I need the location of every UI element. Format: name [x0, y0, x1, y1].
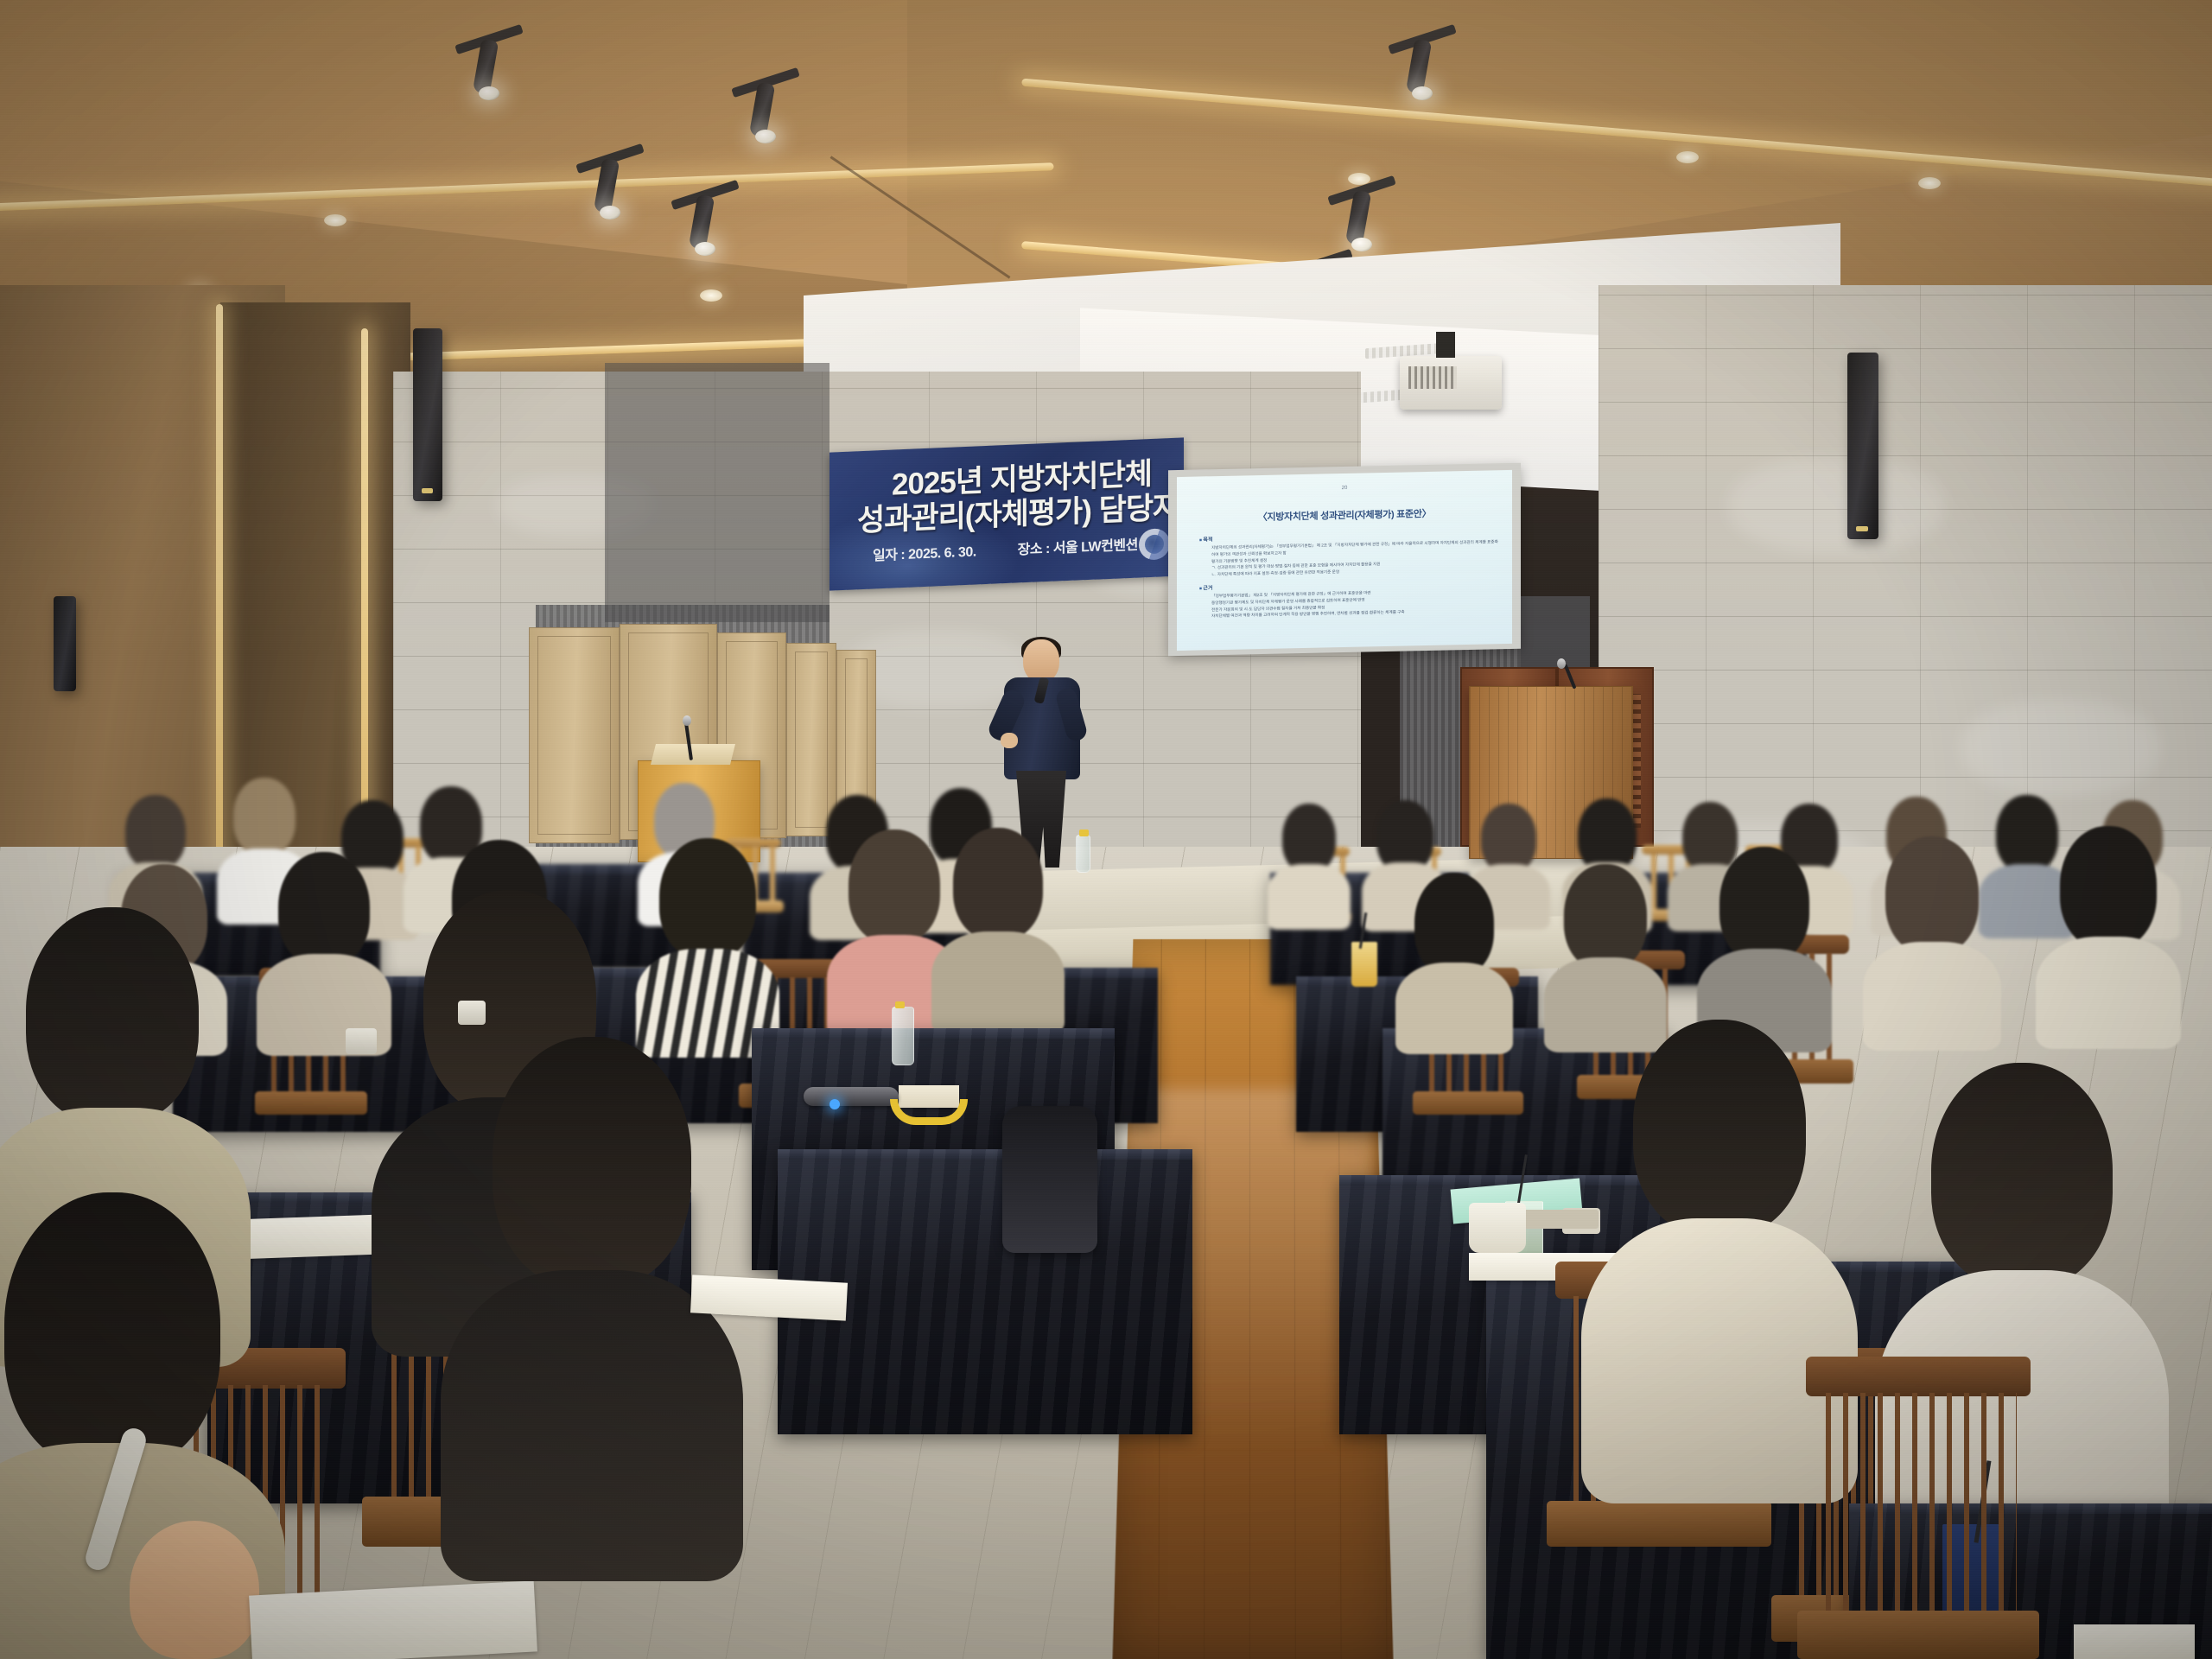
downlight [324, 214, 346, 226]
torso [1863, 942, 2001, 1051]
stone-blotch [1728, 458, 1944, 553]
banner-meta-gap [980, 555, 1014, 556]
head [659, 838, 756, 959]
ceiling-panel-left [0, 0, 1020, 297]
slide-title: 〈지방자치단체 성과관리(자체평가) 표준안〉 [1177, 505, 1512, 525]
head [26, 907, 199, 1123]
head [1414, 873, 1494, 976]
bottle-cap [895, 1001, 905, 1008]
ceramic-mug [1469, 1203, 1526, 1253]
head [1885, 836, 1979, 954]
audience-member [639, 838, 776, 1046]
water-bottle [892, 1007, 914, 1065]
audience-member [1700, 847, 1828, 1046]
wood-folding-screen-panel [529, 627, 620, 843]
bottle-cap [1079, 829, 1089, 836]
head [953, 828, 1043, 940]
speaker-led-indicator [1856, 526, 1868, 531]
projection-screen: 20 〈지방자치단체 성과관리(자체평가) 표준안〉 목적 지방자치단체의 성과… [1168, 463, 1521, 657]
presenter-left-hand [1001, 733, 1018, 748]
torso [1268, 864, 1351, 930]
head [1931, 1063, 2113, 1287]
track-light-lens [600, 206, 620, 219]
water-bottle-on-stage [1076, 835, 1090, 873]
audience-member [933, 828, 1063, 1028]
taegeuk-emblem-icon [1139, 528, 1170, 561]
head [4, 1192, 220, 1469]
projector-vent [1408, 366, 1457, 389]
small-cup [346, 1028, 377, 1054]
chair [1806, 1357, 2031, 1659]
presenter-head [1023, 639, 1059, 683]
audience-member [1866, 836, 1998, 1042]
stone-blotch [1961, 700, 2160, 795]
head [233, 778, 296, 855]
speaker-led-indicator [422, 488, 434, 493]
track-light-lens [755, 130, 776, 143]
printed-handout [2074, 1624, 2195, 1659]
head [1481, 804, 1536, 873]
ceiling-projector [1400, 356, 1502, 410]
wall-speaker-left [413, 328, 442, 501]
head [278, 852, 370, 966]
audience-member [1398, 873, 1510, 1046]
downlight [1676, 151, 1699, 163]
napkin [1521, 1210, 1599, 1229]
event-banner: 2025년 지방자치단체 성과관리(자체평가) 담당자 역량 일자 : 2025… [829, 437, 1184, 590]
wall-speaker-right [1847, 353, 1878, 539]
track-light-lens [695, 242, 715, 256]
track-light-lens [1412, 86, 1433, 100]
torso [2036, 937, 2181, 1049]
head [125, 795, 186, 869]
torso [1395, 963, 1513, 1054]
wall-speaker-far-left [54, 596, 76, 691]
downlight [700, 289, 722, 302]
audience-member [2039, 826, 2177, 1039]
audience-member [259, 852, 389, 1047]
head [1564, 864, 1647, 969]
head [1719, 847, 1809, 963]
head [1633, 1020, 1806, 1236]
banner-date: 일자 : 2025. 6. 30. [873, 544, 976, 563]
hand [130, 1521, 259, 1659]
audience-member [1270, 804, 1348, 925]
small-cup [458, 1001, 486, 1025]
track-light-lens [1351, 238, 1372, 251]
head [849, 829, 940, 944]
slide-body: 목적 지방자치단체의 성과관리(자체평가)는 「정부업무평가기본법」 제 2조 … [1199, 524, 1498, 620]
audience-member [1547, 864, 1664, 1046]
audio-device [804, 1087, 899, 1106]
dark-wall-panel [605, 363, 829, 622]
downlight [1918, 177, 1941, 189]
banner-place: 장소 : 서울 LW컨벤션 [1018, 538, 1138, 558]
microphone-head-icon [1557, 658, 1566, 669]
device-led-indicator [829, 1099, 840, 1109]
printed-handout [690, 1274, 848, 1320]
projection-screen-surface: 20 〈지방자치단체 성과관리(자체평가) 표준안〉 목적 지방자치단체의 성과… [1177, 470, 1512, 651]
head [493, 1037, 691, 1287]
microphone-head-icon [683, 715, 691, 726]
conference-photo-scene: 2025년 지방자치단체 성과관리(자체평가) 담당자 역량 일자 : 2025… [0, 0, 2212, 1659]
torso [931, 931, 1065, 1035]
head [2060, 826, 2157, 949]
backpack [1002, 1106, 1097, 1253]
head [1282, 804, 1336, 873]
lectern-reading-surface [651, 744, 735, 765]
torso [441, 1270, 743, 1581]
track-light-lens [479, 86, 499, 100]
slide-page-number: 20 [1177, 482, 1512, 494]
juice-cup [1351, 942, 1377, 987]
projector-mount [1436, 332, 1455, 358]
